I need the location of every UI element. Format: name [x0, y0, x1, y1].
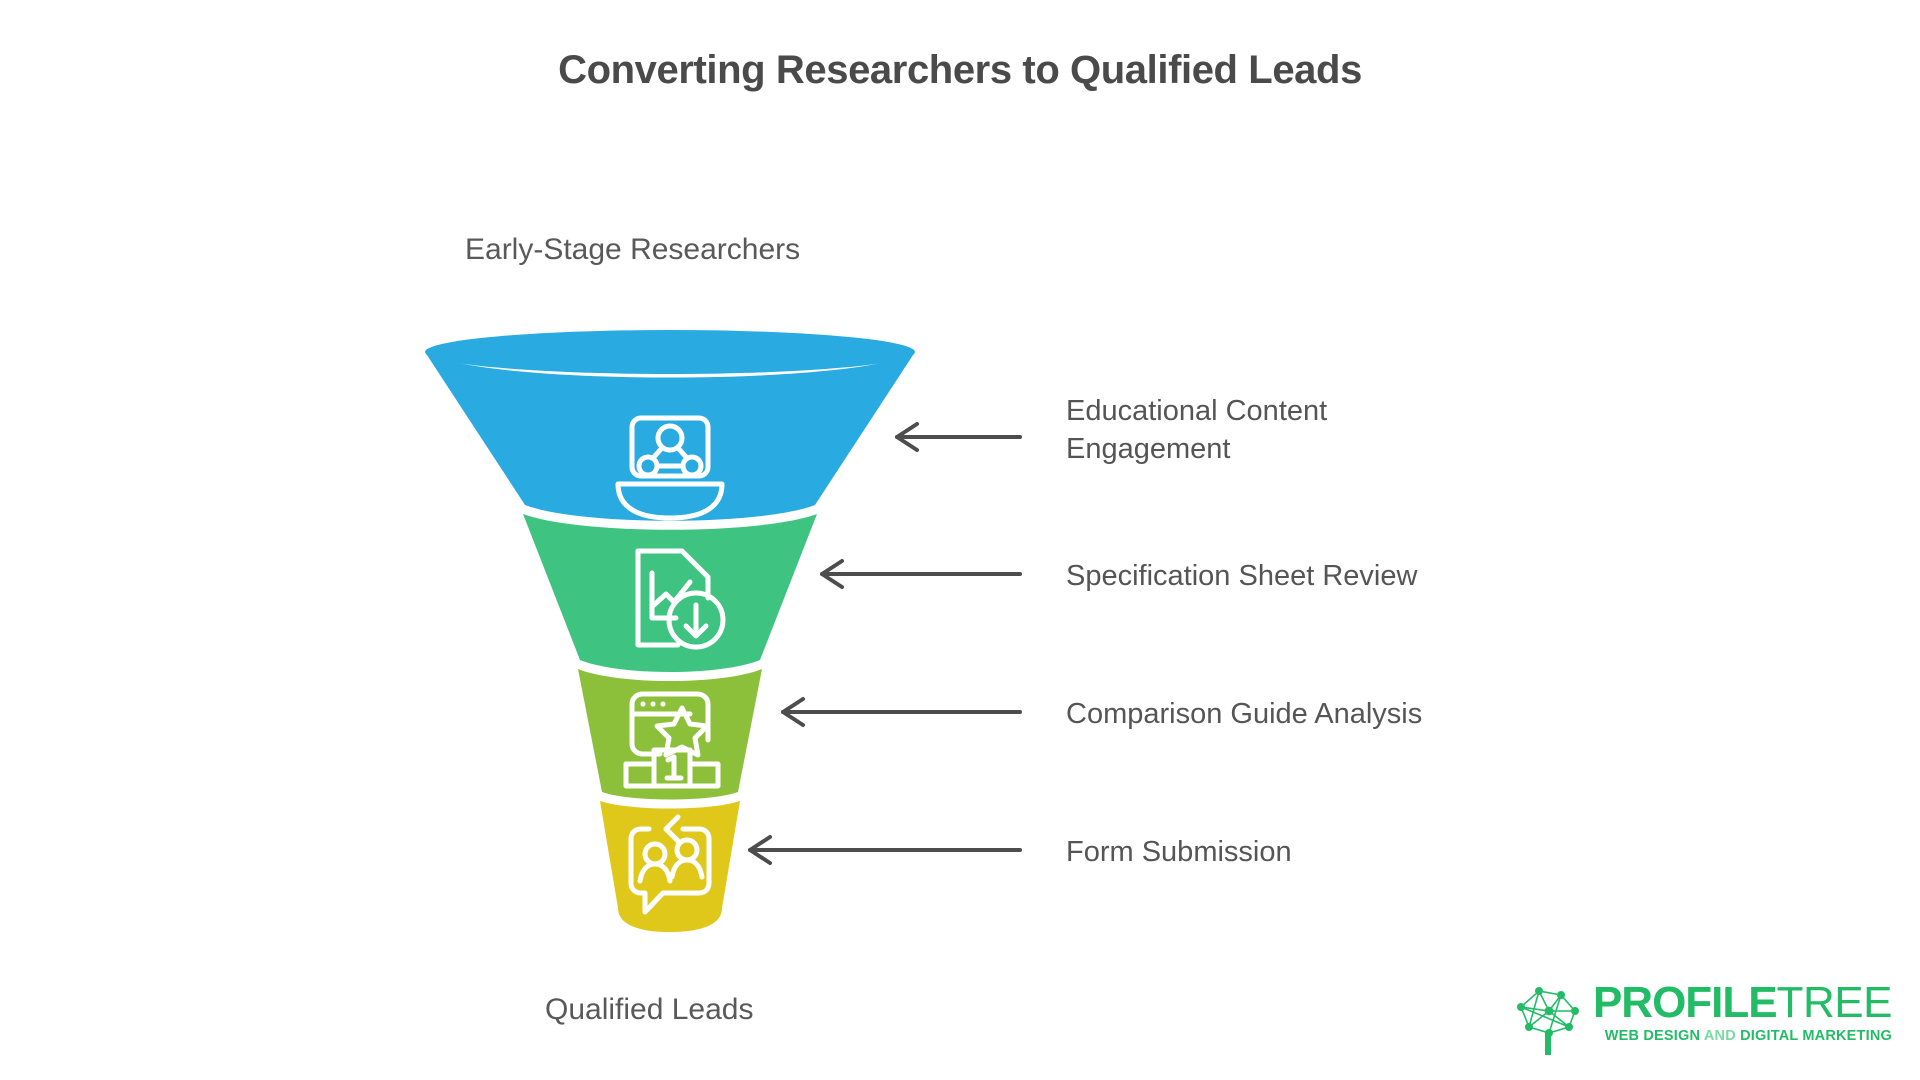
funnel-band-2 [523, 514, 817, 672]
funnel-bottom-label: Qualified Leads [545, 993, 753, 1027]
funnel-band-1 [425, 352, 915, 521]
logo-tagline: WEB DESIGN AND DIGITAL MARKETING [1605, 1028, 1892, 1044]
funnel-band-4 [600, 801, 740, 932]
logo-word-tree: TREE [1777, 981, 1892, 1025]
logo-tagline-part1: WEB DESIGN [1605, 1028, 1700, 1044]
logo-word-profile: PROFILE [1593, 981, 1777, 1025]
funnel-top-label: Early-Stage Researchers [465, 233, 800, 267]
funnel-stage-2[interactable] [523, 514, 817, 672]
logo-tagline-part2: AND [1704, 1028, 1736, 1044]
funnel-stage-3[interactable] [578, 669, 762, 800]
funnel-stage-1[interactable] [425, 330, 915, 521]
tree-network-logo-icon [1509, 981, 1587, 1062]
stage-label-4: Form Submission [1066, 833, 1292, 871]
profiletree-logo[interactable]: PROFILE TREE WEB DESIGN AND DIGITAL MARK… [1509, 981, 1892, 1062]
funnel-rim [425, 330, 915, 374]
stage-label-3: Comparison Guide Analysis [1066, 695, 1422, 733]
funnel-stage-4[interactable] [600, 801, 740, 932]
funnel-diagram [360, 330, 980, 950]
stage-label-2: Specification Sheet Review [1066, 557, 1417, 595]
logo-tagline-part3: DIGITAL MARKETING [1740, 1028, 1892, 1044]
page-title: Converting Researchers to Qualified Lead… [0, 48, 1920, 93]
stage-label-1: Educational Content Engagement [1066, 392, 1327, 469]
